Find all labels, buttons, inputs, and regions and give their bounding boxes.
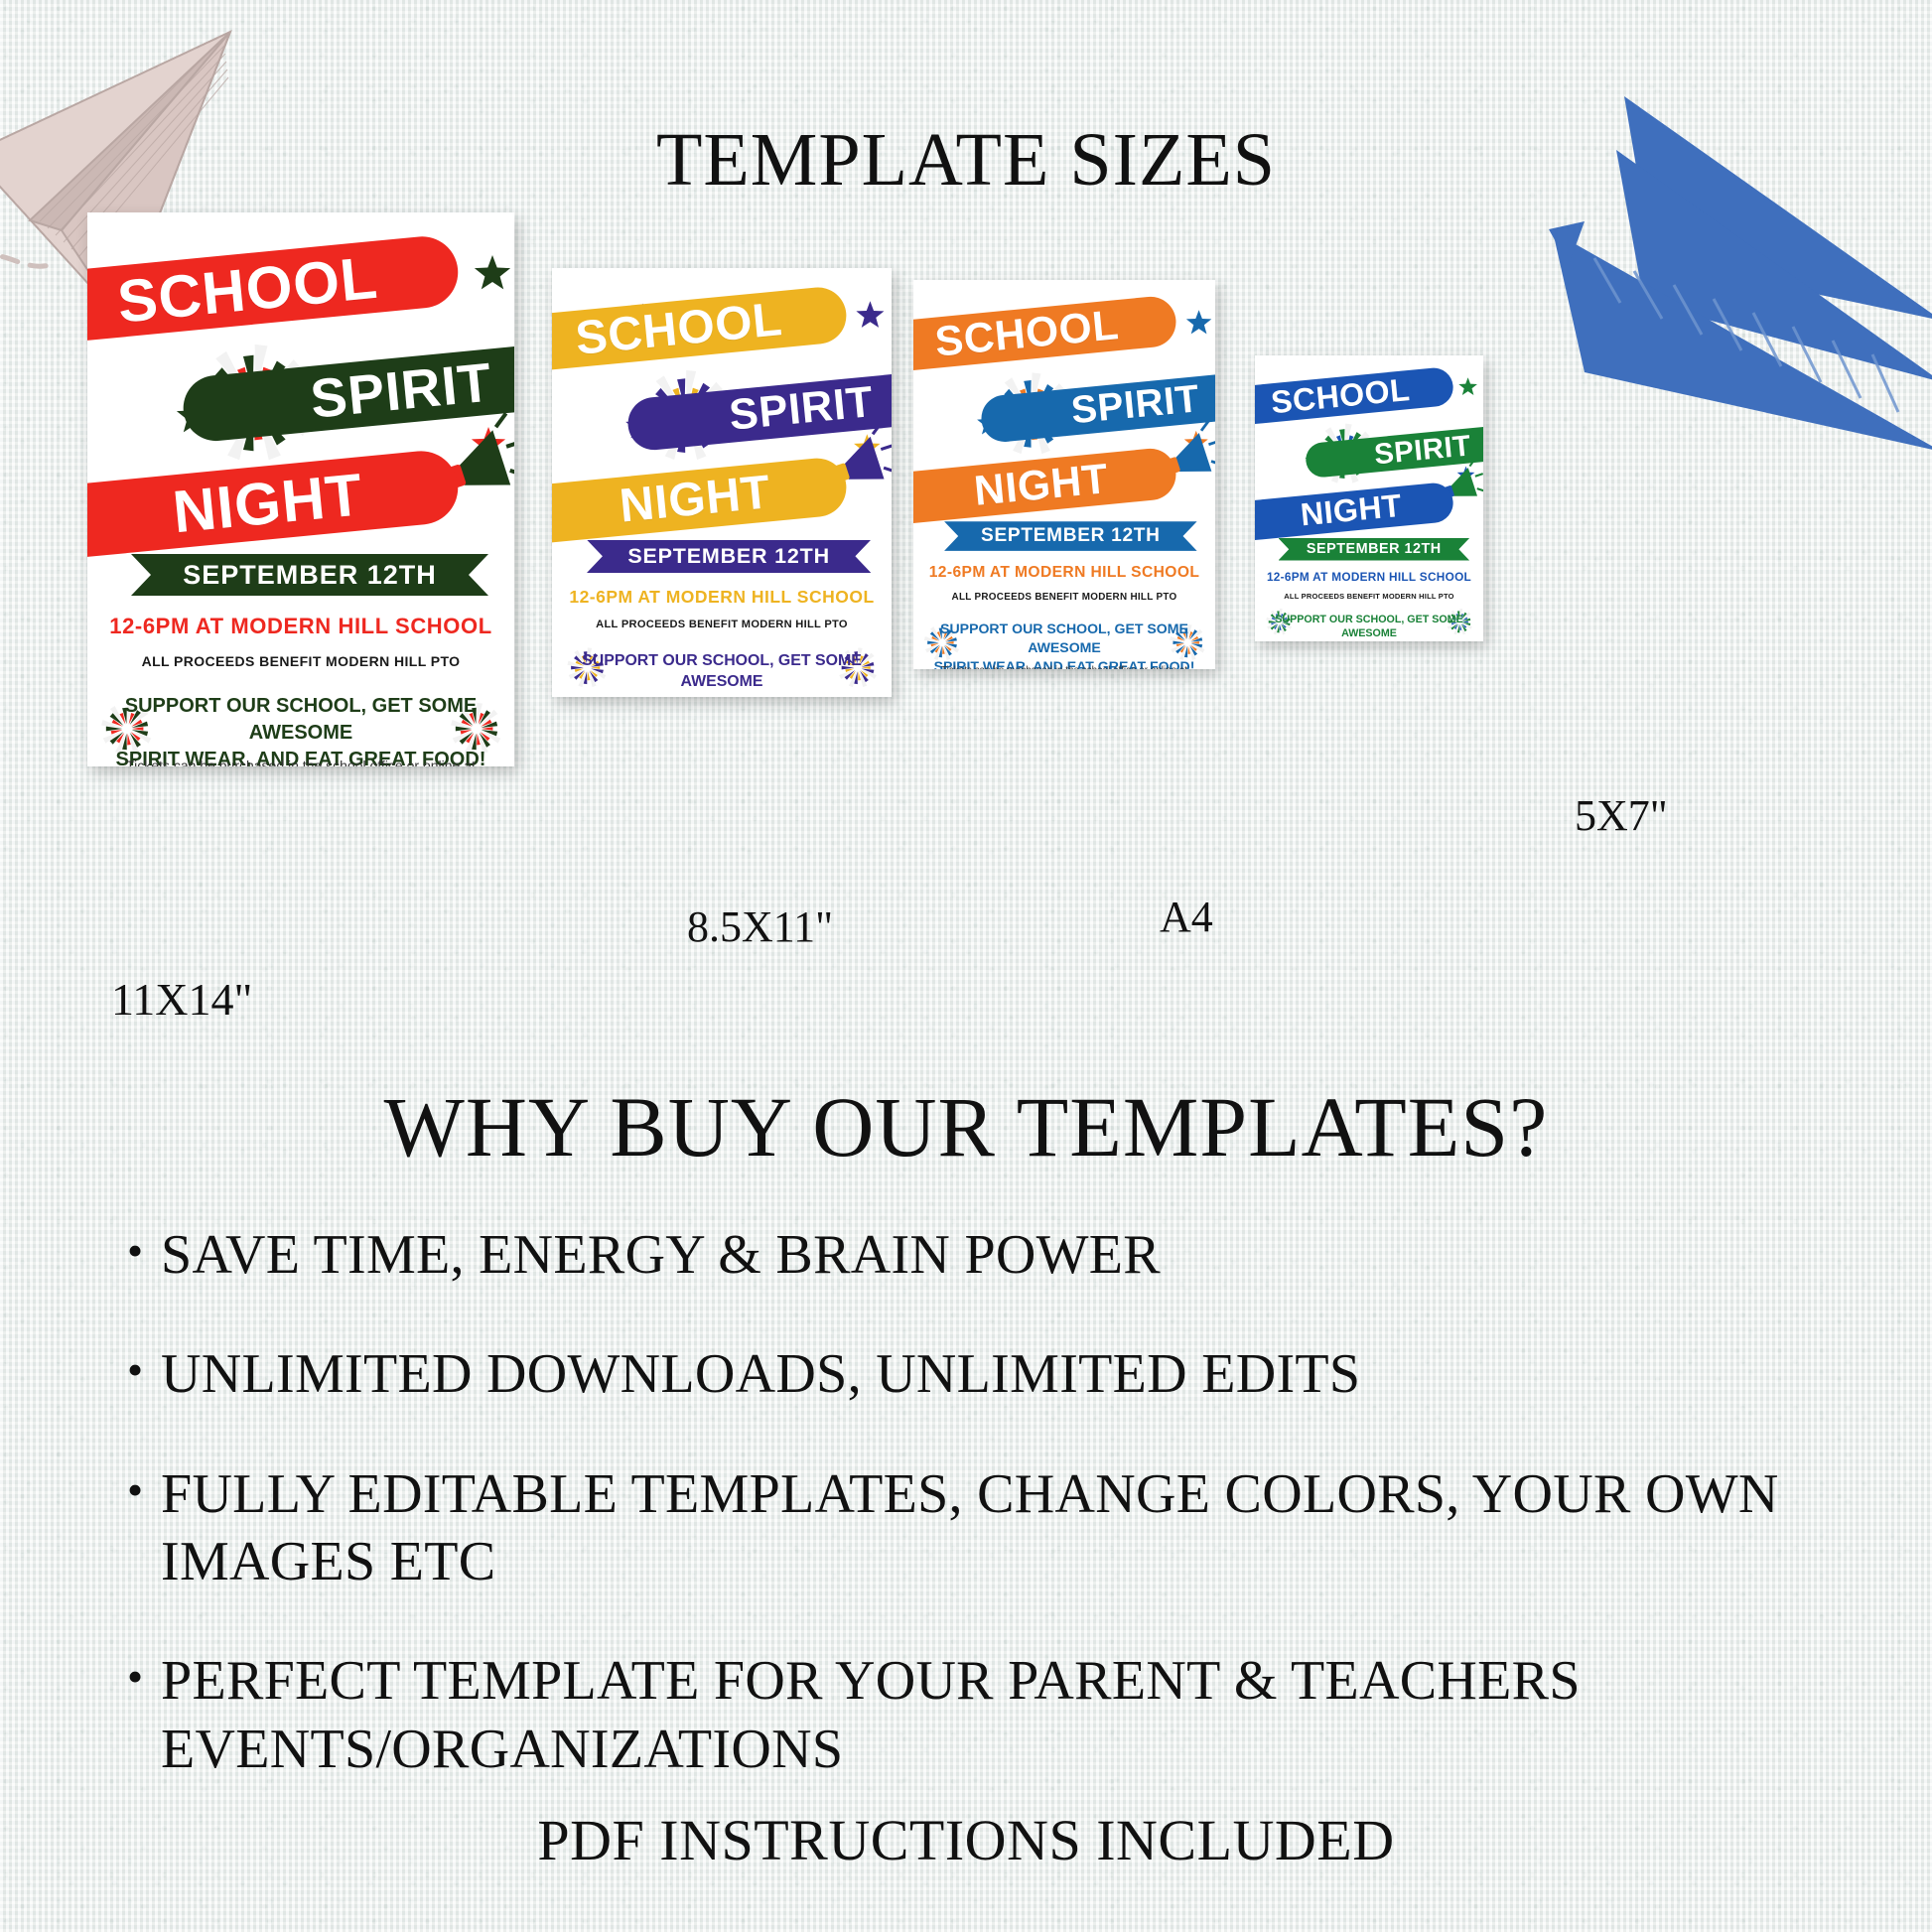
flyer-date-ribbon: SEPTEMBER 12TH xyxy=(587,540,871,573)
benefit-text: FULLY EDITABLE TEMPLATES, CHANGE COLORS,… xyxy=(161,1460,1815,1596)
flyer-proceeds-note: ALL PROCEEDS BENEFIT MODERN HILL PTO xyxy=(104,653,497,669)
size-label-flyer-red-green: 11X14" xyxy=(111,973,252,1026)
size-label-flyer-blue-green: 5X7" xyxy=(1575,790,1668,841)
size-label-flyer-yellow-purple: 8.5X11" xyxy=(687,901,833,952)
flyer-orange-blue[interactable]: SCHOOL SPIRIT NIGHT SEPTEMBER 12TH 12-6P… xyxy=(913,280,1215,669)
flyer-blue-green[interactable]: SCHOOL SPIRIT NIGHT SEPTEMBER 12TH 12-6P… xyxy=(1255,355,1483,641)
flyer-support-message: SUPPORT OUR SCHOOL, GET SOME AWESOMESPIR… xyxy=(925,620,1203,669)
flyer-date-ribbon: SEPTEMBER 12TH xyxy=(131,554,488,596)
benefit-text: SAVE TIME, ENERGY & BRAIN POWER xyxy=(161,1221,1815,1289)
flyer-tickets-note: Tickets can be purchased in the school o… xyxy=(925,664,1203,669)
flyer-time-location: 12-6PM AT MODERN HILL SCHOOL xyxy=(1264,570,1474,584)
benefit-text: UNLIMITED DOWNLOADS, UNLIMITED EDITS xyxy=(161,1340,1815,1408)
flyer-yellow-purple[interactable]: SCHOOL SPIRIT NIGHT SEPTEMBER 12TH 12-6P… xyxy=(552,268,892,697)
flyer-time-location: 12-6PM AT MODERN HILL SCHOOL xyxy=(566,587,879,608)
flyer-gallery: SCHOOL SPIRIT NIGHT SEPTEMBER 12TH 12-6P… xyxy=(0,0,1932,1033)
flyer-date-ribbon: SEPTEMBER 12TH xyxy=(944,521,1197,551)
flyer-proceeds-note: ALL PROCEEDS BENEFIT MODERN HILL PTO xyxy=(566,619,879,630)
benefit-item-4: •PERFECT TEMPLATE FOR YOUR PARENT & TEAC… xyxy=(127,1647,1815,1783)
flyer-support-message: SUPPORT OUR SCHOOL, GET SOME AWESOMESPIR… xyxy=(566,650,879,697)
flyer-red-green[interactable]: SCHOOL SPIRIT NIGHT SEPTEMBER 12TH 12-6P… xyxy=(87,212,514,766)
benefit-item-2: •UNLIMITED DOWNLOADS, UNLIMITED EDITS xyxy=(127,1340,1815,1408)
flyer-proceeds-note: ALL PROCEEDS BENEFIT MODERN HILL PTO xyxy=(1264,592,1474,601)
benefit-item-3: •FULLY EDITABLE TEMPLATES, CHANGE COLORS… xyxy=(127,1460,1815,1596)
section-title-why-buy: WHY BUY OUR TEMPLATES? xyxy=(0,1077,1932,1176)
flyer-time-location: 12-6PM AT MODERN HILL SCHOOL xyxy=(925,564,1203,582)
benefit-item-1: •SAVE TIME, ENERGY & BRAIN POWER xyxy=(127,1221,1815,1289)
flyer-proceeds-note: ALL PROCEEDS BENEFIT MODERN HILL PTO xyxy=(925,592,1203,603)
flyer-date-ribbon: SEPTEMBER 12TH xyxy=(1279,538,1470,561)
flyer-date-text: SEPTEMBER 12TH xyxy=(1307,541,1442,557)
flyer-support-message: SUPPORT OUR SCHOOL, GET SOME AWESOMESPIR… xyxy=(104,693,497,766)
benefit-text: PERFECT TEMPLATE FOR YOUR PARENT & TEACH… xyxy=(161,1647,1815,1783)
flyer-date-text: SEPTEMBER 12TH xyxy=(981,525,1161,547)
bullet-dot-icon: • xyxy=(127,1460,161,1520)
benefits-list: •SAVE TIME, ENERGY & BRAIN POWER•UNLIMIT… xyxy=(127,1221,1815,1835)
flyer-time-location: 12-6PM AT MODERN HILL SCHOOL xyxy=(104,614,497,639)
flyer-support-message: SUPPORT OUR SCHOOL, GET SOME AWESOMESPIR… xyxy=(1264,613,1474,641)
size-label-flyer-orange-blue: A4 xyxy=(1160,892,1213,942)
pdf-instructions-note: PDF INSTRUCTIONS INCLUDED xyxy=(0,1807,1932,1873)
flyer-date-text: SEPTEMBER 12TH xyxy=(183,560,437,591)
bullet-dot-icon: • xyxy=(127,1340,161,1400)
flyer-tickets-note: Tickets can be purchased in the school o… xyxy=(104,757,497,766)
bullet-dot-icon: • xyxy=(127,1221,161,1281)
flyer-date-text: SEPTEMBER 12TH xyxy=(627,544,830,569)
bullet-dot-icon: • xyxy=(127,1647,161,1707)
